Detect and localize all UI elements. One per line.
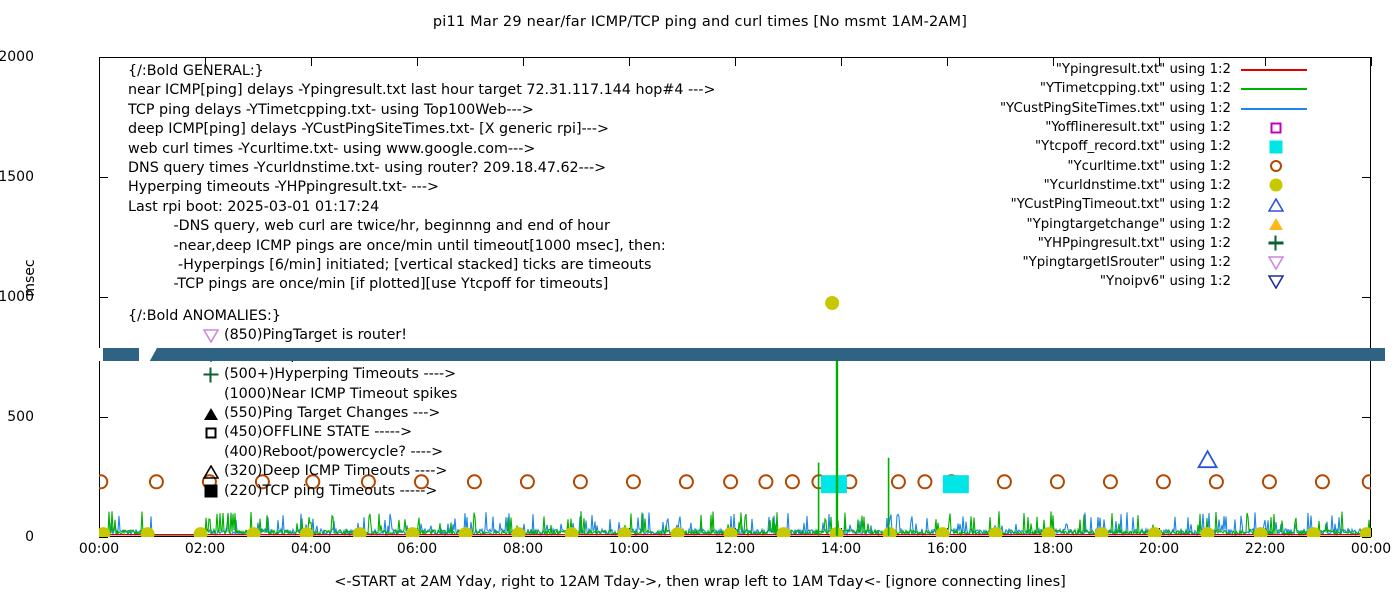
anomalies-annotation-block: {/:Bold ANOMALIES:}(850)PingTarget is ro… [128, 307, 457, 501]
legend-label: "Yofflineresult.txt" using 1:2 [1045, 120, 1231, 135]
anomaly-marker [198, 462, 224, 481]
general-line: -TCP pings are once/min [if plotted][use… [128, 275, 715, 294]
legend-ycustpingtimeout[interactable]: "YCustPingTimeout.txt" using 1:2 [955, 195, 1315, 214]
y-tick-label: 0 [0, 529, 34, 545]
legend-ycurltime[interactable]: "Ycurltime.txt" using 1:2 [955, 156, 1315, 175]
data-marker-open-circle [724, 475, 737, 488]
data-marker-open-circle [99, 475, 107, 488]
legend: "Ypingresult.txt" using 1:2"YTimetcpping… [955, 60, 1315, 292]
data-marker-filled-circle [883, 527, 897, 537]
anomaly-marker [198, 365, 224, 384]
data-marker-filled-square [821, 475, 847, 493]
general-line: Hyperping timeouts -YHPpingresult.txt- -… [128, 178, 715, 197]
anomaly-label: (320)Deep ICMP Timeouts ----> [224, 462, 447, 481]
legend-key [1237, 176, 1315, 195]
anomaly-marker [198, 443, 224, 462]
anomaly-label: (400)Reboot/powercycle? ----> [224, 443, 443, 462]
data-marker-filled-circle [724, 527, 738, 537]
x-tick-label: 08:00 [483, 541, 563, 557]
anomaly-label: (500+)Hyperping Timeouts ----> [224, 365, 456, 384]
open-square-icon [206, 428, 217, 439]
y-tick-label: 500 [0, 409, 34, 425]
anomaly-hyperping-timeouts: (500+)Hyperping Timeouts ----> [128, 365, 457, 384]
x-tick-label: 18:00 [1013, 541, 1093, 557]
x-tick-label: 20:00 [1119, 541, 1199, 557]
anomaly-marker [198, 424, 224, 443]
data-marker-open-circle [892, 475, 905, 488]
open-square-icon [1271, 122, 1282, 133]
x-tick-label: 22:00 [1225, 541, 1305, 557]
x-tick-label: 00:00 [59, 541, 139, 557]
anomaly-label: (550)Ping Target Changes ---> [224, 404, 440, 423]
chart-title: pi11 Mar 29 near/far ICMP/TCP ping and c… [0, 14, 1400, 30]
general-line: web curl times -Ycurltime.txt- using www… [128, 140, 715, 159]
data-marker-filled-circle [1095, 527, 1109, 537]
legend-label: "YTimetcpping.txt" using 1:2 [1040, 81, 1231, 96]
data-marker-open-circle [786, 475, 799, 488]
x-tick-label: 10:00 [589, 541, 669, 557]
general-line: deep ICMP[ping] delays -YCustPingSiteTim… [128, 120, 715, 139]
anomaly-label: (1000)Near ICMP Timeout spikes [224, 385, 457, 404]
legend-ypingtargetisrouter[interactable]: "YpingtargetISrouter" using 1:2 [955, 253, 1315, 272]
legend-ynoipv6[interactable]: "Ynoipv6" using 1:2 [955, 272, 1315, 291]
legend-ycustpingsitetimes[interactable]: "YCustPingSiteTimes.txt" using 1:2 [955, 99, 1315, 118]
data-marker-filled-circle [1148, 527, 1162, 537]
legend-key [1237, 79, 1315, 98]
data-marker-open-circle [627, 475, 640, 488]
anomaly-marker [198, 404, 224, 423]
data-marker-open-circle [1104, 475, 1117, 488]
legend-key [1237, 99, 1315, 118]
anomaly-pingtarget-router: (850)PingTarget is router! [128, 326, 457, 345]
legend-label: "Ytcpoff_record.txt" using 1:2 [1035, 139, 1231, 154]
anomaly-label: (450)OFFLINE STATE -----> [224, 423, 412, 442]
legend-label: "Ycurltime.txt" using 1:2 [1067, 159, 1231, 174]
legend-label: "Ypingtargetchange" using 1:2 [1027, 217, 1232, 232]
anomaly-marker [198, 482, 224, 501]
legend-key [1237, 195, 1315, 214]
plus-icon [1269, 236, 1284, 251]
anomaly-near-icmp-spikes: (1000)Near ICMP Timeout spikes [128, 385, 457, 404]
data-marker-open-triangle-up [1199, 451, 1217, 467]
open-triangle-up-icon [1268, 198, 1284, 212]
data-marker-open-circle [998, 475, 1011, 488]
data-marker-open-circle [1263, 475, 1276, 488]
data-marker-open-circle [680, 475, 693, 488]
anomaly-deep-icmp-timeouts: (320)Deep ICMP Timeouts ----> [128, 462, 457, 481]
y-axis-label: msec [22, 238, 38, 318]
open-triangle-down-icon [203, 329, 219, 343]
general-line: -near,deep ICMP pings are once/min until… [128, 237, 715, 256]
legend-line-swatch [1241, 108, 1307, 110]
x-tick-label: 00:00 [1331, 541, 1400, 557]
legend-key [1237, 234, 1315, 253]
filled-triangle-up-icon [1268, 217, 1284, 231]
anomaly-marker [198, 327, 224, 346]
open-circle-icon [1270, 160, 1282, 172]
legend-ytimetcpping[interactable]: "YTimetcpping.txt" using 1:2 [955, 79, 1315, 98]
data-marker-filled-circle [671, 527, 685, 537]
x-tick-label: 06:00 [377, 541, 457, 557]
general-heading: {/:Bold GENERAL:} [128, 62, 715, 81]
legend-key [1237, 272, 1315, 291]
general-line: Last rpi boot: 2025-03-01 01:17:24 [128, 198, 715, 217]
legend-key [1237, 137, 1315, 156]
open-triangle-down-icon [1268, 256, 1284, 270]
data-marker-open-circle [1157, 475, 1170, 488]
data-marker-open-circle [521, 475, 534, 488]
data-marker-open-circle [1363, 475, 1371, 488]
legend-line-swatch [1241, 69, 1307, 71]
legend-key [1237, 253, 1315, 272]
data-marker-open-circle [1316, 475, 1329, 488]
data-marker-open-circle [468, 475, 481, 488]
x-tick-label: 02:00 [165, 541, 245, 557]
general-line: -DNS query, web curl are twice/hr, begin… [128, 217, 715, 236]
data-marker-open-circle [1051, 475, 1064, 488]
legend-label: "YpingtargetISrouter" using 1:2 [1022, 255, 1231, 270]
anomalies-heading: {/:Bold ANOMALIES:} [128, 307, 457, 326]
x-tick-label: 12:00 [695, 541, 775, 557]
open-triangle-down-icon [1268, 275, 1284, 289]
x-tick-label: 16:00 [907, 541, 987, 557]
open-triangle-up-icon [203, 465, 219, 479]
anomaly-label: (220)TCP ping Timeouts -----> [224, 482, 437, 501]
selection-overlay-band[interactable] [85, 348, 1385, 361]
anomaly-reboot-powercycle: (400)Reboot/powercycle? ----> [128, 443, 457, 462]
data-marker-open-circle [918, 475, 931, 488]
legend-ypingtargetchange[interactable]: "Ypingtargetchange" using 1:2 [955, 214, 1315, 233]
legend-yhppingresult[interactable]: "YHPpingresult.txt" using 1:2 [955, 234, 1315, 253]
filled-square-icon [205, 485, 218, 498]
anomaly-marker [198, 385, 224, 404]
legend-yofflineresult[interactable]: "Yofflineresult.txt" using 1:2 [955, 118, 1315, 137]
legend-label: "YHPpingresult.txt" using 1:2 [1038, 236, 1231, 251]
anomaly-tcp-ping-timeouts: (220)TCP ping Timeouts -----> [128, 482, 457, 501]
legend-label: "Ypingresult.txt" using 1:2 [1056, 62, 1231, 77]
filled-circle-icon [1270, 179, 1283, 192]
legend-key [1237, 157, 1315, 176]
data-marker-open-circle [1210, 475, 1223, 488]
legend-ytcpoff-record[interactable]: "Ytcpoff_record.txt" using 1:2 [955, 137, 1315, 156]
data-marker-filled-circle [1360, 527, 1371, 537]
data-marker-filled-circle [825, 296, 839, 310]
filled-triangle-up-icon [203, 407, 219, 421]
general-annotation-block: {/:Bold GENERAL:}near ICMP[ping] delays … [128, 62, 715, 295]
legend-key [1237, 118, 1315, 137]
legend-key [1237, 60, 1315, 79]
data-marker-open-circle [759, 475, 772, 488]
legend-ycurldnstime[interactable]: "Ycurldnstime.txt" using 1:2 [955, 176, 1315, 195]
legend-label: "YCustPingSiteTimes.txt" using 1:2 [1000, 101, 1231, 116]
general-line: near ICMP[ping] delays -Ypingresult.txt … [128, 81, 715, 100]
data-marker-filled-square [943, 475, 969, 493]
anomaly-ping-target-changes: (550)Ping Target Changes ---> [128, 404, 457, 423]
anomaly-offline-state: (450)OFFLINE STATE -----> [128, 423, 457, 442]
anomaly-label: (850)PingTarget is router! [224, 326, 407, 345]
legend-key [1237, 215, 1315, 234]
legend-label: "Ynoipv6" using 1:2 [1100, 274, 1231, 289]
plus-icon [204, 367, 219, 382]
legend-label: "Ycurldnstime.txt" using 1:2 [1044, 178, 1231, 193]
general-line: -Hyperpings [6/min] initiated; [vertical… [128, 256, 715, 275]
general-line: TCP ping delays -YTimetcpping.txt- using… [128, 101, 715, 120]
y-tick-label: 2000 [0, 49, 34, 65]
legend-label: "YCustPingTimeout.txt" using 1:2 [1011, 197, 1231, 212]
filled-square-icon [1270, 140, 1283, 153]
legend-ypingresult[interactable]: "Ypingresult.txt" using 1:2 [955, 60, 1315, 79]
x-tick-label: 04:00 [271, 541, 351, 557]
data-marker-filled-circle [1201, 527, 1215, 537]
general-line: DNS query times -Ycurldnstime.txt- using… [128, 159, 715, 178]
y-tick-label: 1000 [0, 289, 34, 305]
data-marker-open-circle [574, 475, 587, 488]
x-tick-label: 14:00 [801, 541, 881, 557]
x-axis-caption: <-START at 2AM Yday, right to 12AM Tday-… [0, 574, 1400, 590]
legend-line-swatch [1241, 88, 1307, 90]
y-tick-label: 1500 [0, 169, 34, 185]
